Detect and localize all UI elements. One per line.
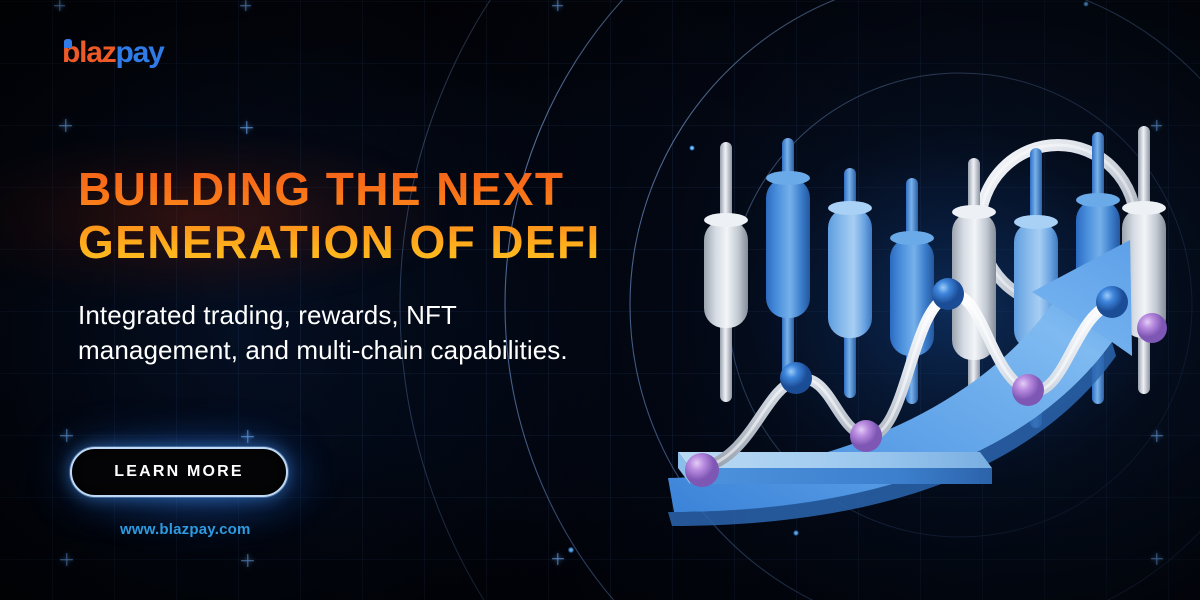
node-purple bbox=[1012, 374, 1044, 406]
hero-banner: blazpay BUILDING THE NEXT GENERATION OF … bbox=[0, 0, 1200, 600]
brand-logo[interactable]: blazpay bbox=[62, 38, 164, 68]
chart-illustration bbox=[660, 60, 1200, 530]
node-purple bbox=[850, 420, 882, 452]
logo-b-cap-accent bbox=[64, 39, 72, 48]
learn-more-button[interactable]: LEARN MORE bbox=[70, 447, 288, 497]
node-blue bbox=[1096, 286, 1128, 318]
node-purple bbox=[1137, 313, 1167, 343]
website-url[interactable]: www.blazpay.com bbox=[120, 521, 251, 538]
node-blue bbox=[932, 278, 964, 310]
node-blue bbox=[780, 362, 812, 394]
node-purple bbox=[685, 453, 719, 487]
subheadline: Integrated trading, rewards, NFT managem… bbox=[78, 298, 623, 369]
logo-text-pay: pay bbox=[116, 36, 164, 69]
headline-line-2: GENERATION OF DEFI bbox=[78, 216, 718, 269]
page-title: BUILDING THE NEXT GENERATION OF DEFI bbox=[78, 163, 718, 270]
headline-line-1: BUILDING THE NEXT bbox=[78, 163, 718, 216]
chart-illustration-svg bbox=[660, 60, 1200, 530]
